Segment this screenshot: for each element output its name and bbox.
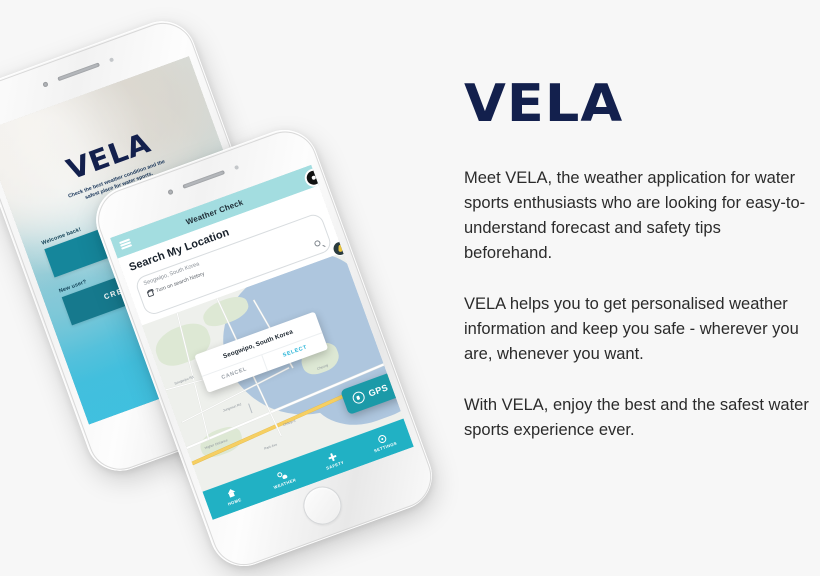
record-badge-icon[interactable] [302,166,325,189]
phone-screen-weather-check: Weather Check Search My Location Seogwip… [110,165,414,520]
marketing-copy-column: VELA Meet VELA, the weather application … [464,78,812,443]
home-button[interactable] [298,481,347,530]
brand-logo: VELA [464,78,820,130]
gps-target-icon [351,390,366,405]
lock-icon [146,289,154,298]
copy-paragraph-3: With VELA, enjoy the best and the safest… [464,393,809,443]
front-camera-icon [167,189,173,195]
copy-paragraph-2: VELA helps you to get personalised weath… [464,292,809,367]
gps-button-label: GPS [367,382,389,398]
copy-paragraph-1: Meet VELA, the weather application for w… [464,166,809,266]
front-camera-icon [42,81,48,87]
presentation-canvas: VELA Check the best weather condition an… [0,0,820,492]
phone-mockup-weather-check: Weather Check Search My Location Seogwip… [87,120,442,575]
weather-check-screen: Weather Check Search My Location Seogwip… [110,165,414,520]
magnifier-icon[interactable] [314,239,326,251]
earpiece-speaker-icon [57,63,100,82]
earpiece-speaker-icon [182,170,225,189]
proximity-sensor-icon [234,165,239,170]
proximity-sensor-icon [109,57,114,62]
user-avatar-icon[interactable] [330,239,349,258]
